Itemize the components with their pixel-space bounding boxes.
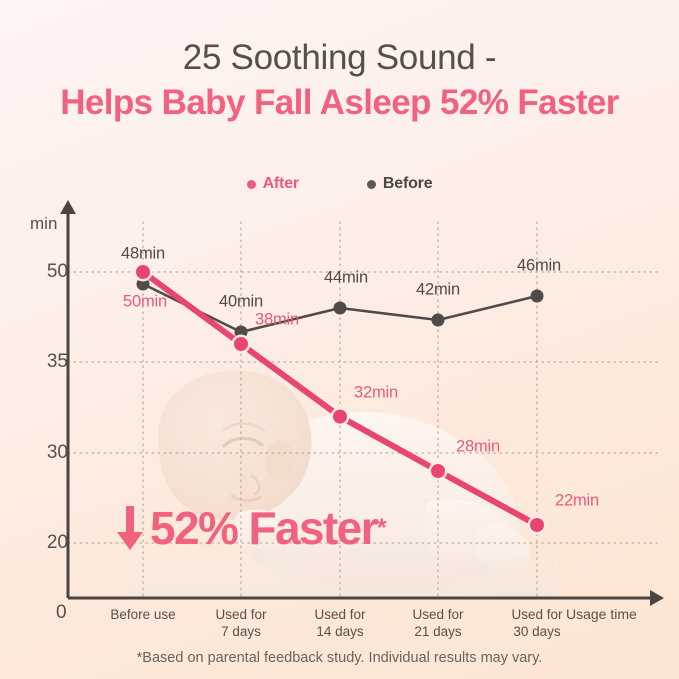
chart-canvas: [0, 0, 679, 679]
y-axis-tick-label: 35: [22, 351, 68, 373]
data-point-label: 42min: [416, 281, 460, 300]
data-point-label: 44min: [324, 269, 368, 288]
footnote: *Based on parental feedback study. Indiv…: [0, 650, 679, 666]
callout-text: 52% Faster: [150, 500, 377, 556]
y-axis-ticks: 50353020: [0, 0, 68, 679]
infographic-root: 25 Soothing Sound - Helps Baby Fall Asle…: [0, 0, 679, 679]
data-point-label: 40min: [219, 293, 263, 312]
data-point-label: 38min: [255, 311, 299, 330]
y-axis-tick-label: 20: [22, 532, 68, 554]
y-axis-tick-label: 30: [22, 442, 68, 464]
data-point-label: 22min: [555, 492, 599, 511]
data-point-label: 48min: [121, 245, 165, 264]
data-point-label: 28min: [456, 438, 500, 457]
x-axis-tick-label: Used for 14 days: [290, 606, 390, 640]
x-axis-tick-label: Before use: [93, 606, 193, 623]
y-axis-tick-label: 50: [22, 261, 68, 283]
faster-callout: 52% Faster *: [112, 500, 385, 556]
arrow-down-icon: [112, 502, 148, 554]
x-axis-tick-label: Used for 21 days: [388, 606, 488, 640]
x-axis-tick-label: Used for 7 days: [191, 606, 291, 640]
callout-asterisk: *: [377, 516, 385, 541]
data-point-label: 46min: [517, 257, 561, 276]
line-chart: min 0 50353020 Before useUsed for 7 days…: [0, 0, 679, 679]
x-axis-label: Usage time: [566, 606, 637, 622]
data-point-label: 32min: [354, 383, 398, 402]
data-point-label: 50min: [123, 293, 167, 312]
